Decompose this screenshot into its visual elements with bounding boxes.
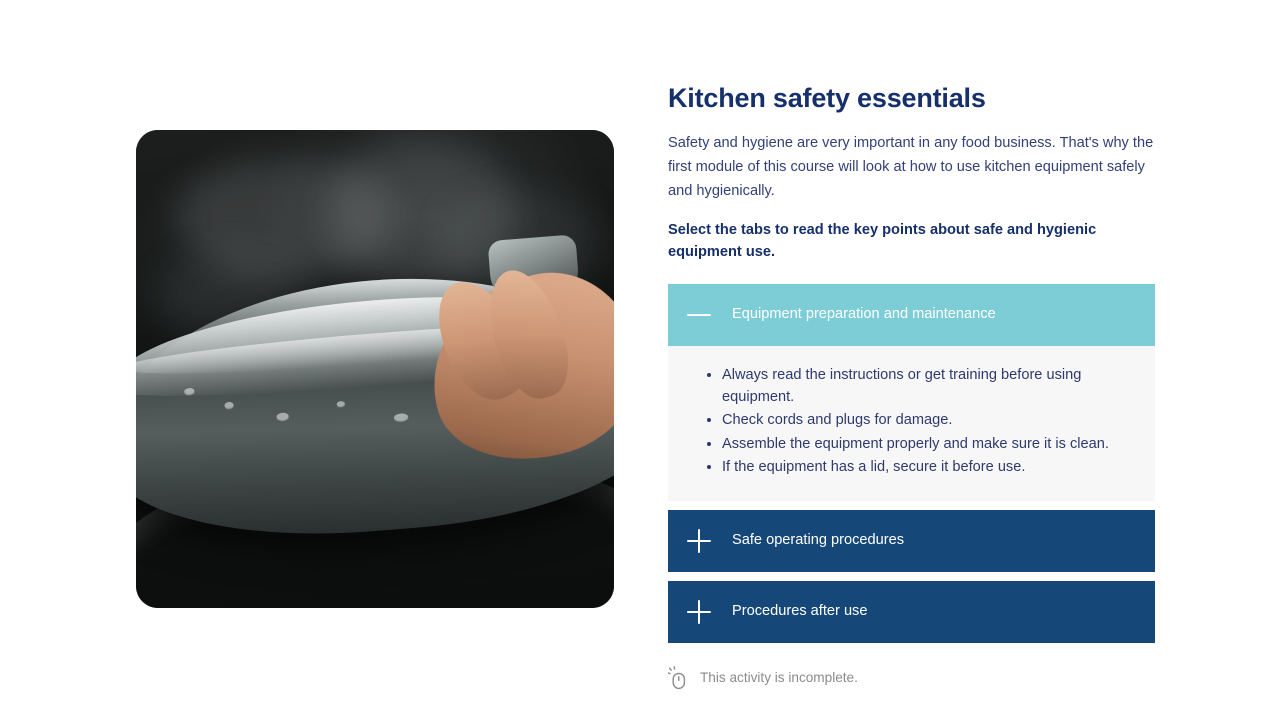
activity-image: [136, 130, 614, 608]
accordion-item-procedures-after-use: Procedures after use: [668, 581, 1155, 643]
list-item: Assemble the equipment properly and make…: [722, 433, 1129, 455]
water-droplet: [276, 412, 289, 420]
accordion-item-equipment-preparation-and-maintenance: Equipment preparation and maintenance Al…: [668, 284, 1155, 501]
page-title: Kitchen safety essentials: [668, 82, 1155, 114]
mouse-click-icon: [668, 666, 690, 690]
list-item: If the equipment has a lid, secure it be…: [722, 456, 1129, 478]
accordion-item-safe-operating-procedures: Safe operating procedures: [668, 510, 1155, 572]
water-droplet: [184, 387, 194, 394]
content-column: Kitchen safety essentials Safety and hyg…: [668, 82, 1155, 690]
kitchen-photo: [136, 130, 614, 608]
tab-label: Equipment preparation and maintenance: [732, 306, 996, 324]
water-droplet: [394, 413, 409, 421]
tab-header-procedures-after-use[interactable]: Procedures after use: [668, 581, 1155, 643]
water-droplet: [337, 400, 345, 406]
water-droplet: [224, 402, 233, 409]
plus-icon: [686, 599, 712, 625]
tab-header-safe-operating-procedures[interactable]: Safe operating procedures: [668, 510, 1155, 572]
plus-icon: [686, 528, 712, 554]
activity-status: This activity is incomplete.: [668, 666, 1155, 690]
tab-header-equipment-preparation-and-maintenance[interactable]: Equipment preparation and maintenance: [668, 284, 1155, 346]
tab-label: Procedures after use: [732, 603, 867, 621]
tab-label: Safe operating procedures: [732, 532, 904, 550]
status-label: This activity is incomplete.: [700, 670, 858, 686]
list-item: Check cords and plugs for damage.: [722, 409, 1129, 431]
intro-paragraph: Safety and hygiene are very important in…: [668, 132, 1154, 203]
activity-page: Kitchen safety essentials Safety and hyg…: [0, 0, 1280, 720]
minus-icon: [686, 302, 712, 328]
list-item: Always read the instructions or get trai…: [722, 364, 1129, 408]
instruction-text: Select the tabs to read the key points a…: [668, 220, 1108, 264]
tab-panel-equipment-preparation-and-maintenance: Always read the instructions or get trai…: [668, 346, 1155, 501]
key-points-list: Always read the instructions or get trai…: [694, 364, 1129, 478]
tabs-accordion: Equipment preparation and maintenance Al…: [668, 284, 1155, 643]
